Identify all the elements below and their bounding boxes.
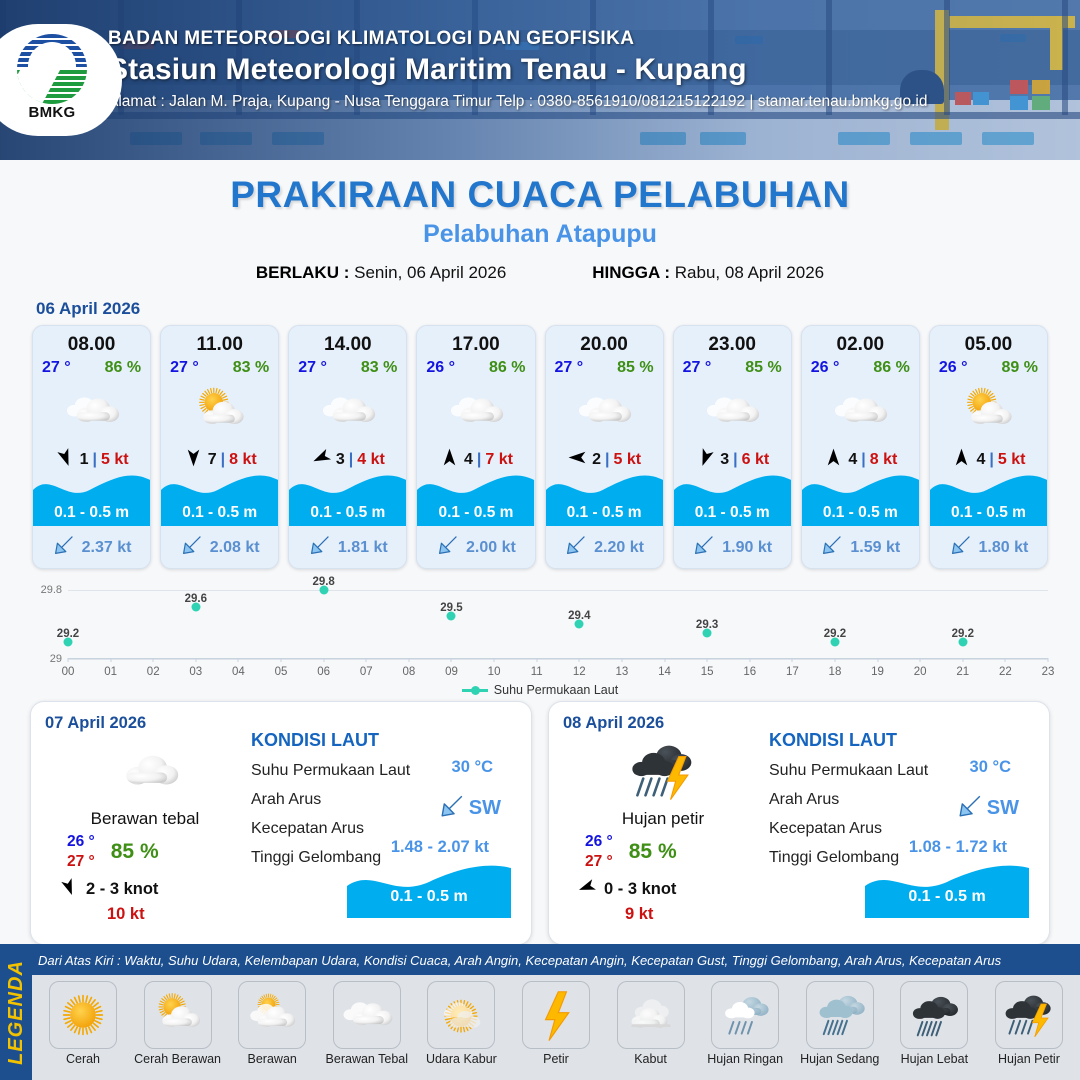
wind-separator: | [221,451,225,469]
chart-x-tick-label: 22 [999,666,1012,678]
card-time: 23.00 [674,326,791,356]
daily-forecast-row: 07 April 2026 Berawan tebal26 °27 °85 %2… [0,701,1080,945]
wave-height: 0.1 - 0.5 m [802,504,919,522]
daily-condition: Hujan petir [563,809,763,829]
card-time: 08.00 [33,326,150,356]
wind-separator: | [733,451,737,469]
daily-temp-max: 27 ° [67,853,95,871]
chart-point-label: 29.6 [185,593,207,605]
legend-item-label: Berawan Tebal [326,1052,408,1066]
chart-x-tick-label: 18 [829,666,842,678]
chart-x-tick-label: 16 [743,666,756,678]
gust-speed: 5 kt [101,451,129,469]
chart-x-tick [707,658,708,662]
legend-item: Berawan [227,981,317,1066]
agency-name: BADAN METEOROLOGI KLIMATOLOGI DAN GEOFIS… [108,28,927,50]
legend-item: Hujan Sedang [795,981,885,1066]
legend-items: Cerah Cerah Berawan [32,975,1080,1080]
weather-berawan-tebal-icon [45,735,245,807]
daily-forecast-panel: 07 April 2026 Berawan tebal26 °27 °85 %2… [30,701,532,945]
weather-petir-icon [522,981,590,1049]
wind-separator: | [989,451,993,469]
chart-x-tick-label: 08 [402,666,415,678]
daily-forecast-panel: 08 April 2026 Hujan petir26 °27 °85 %0 -… [548,701,1050,945]
hourly-card: 14.0027 °83 % 3|4 kt0.1 - 0.5 m1.81 kt [288,325,407,569]
card-current: 1.59 kt [802,533,919,562]
current-speed: 1.81 kt [338,539,388,557]
card-current: 1.80 kt [930,533,1047,562]
wind-direction-arrow-icon [577,877,597,902]
legend-item: Udara Kabur [416,981,506,1066]
card-temp-hum: 27 °85 % [674,356,791,377]
wind-speed: 7 [208,451,217,469]
chart-x-tick-label: 13 [616,666,629,678]
sst-chart: 2929.80001020304050607080910111213141516… [20,581,1060,697]
card-temperature: 26 ° [939,359,968,377]
legend-item: Hujan Ringan [700,981,790,1066]
chart-x-tick [621,658,622,662]
card-time: 02.00 [802,326,919,356]
chart-y-tick-label: 29 [50,653,62,665]
legend-item: Petir [511,981,601,1066]
legend-item-label: Kabut [634,1052,667,1066]
chart-legend-marker-icon [462,689,488,692]
current-speed: 2.20 kt [594,539,644,557]
daily-humidity: 85 % [629,840,677,864]
chart-x-tick [1005,658,1006,662]
hourly-date-label: 06 April 2026 [36,299,1080,319]
logo-label: BMKG [9,104,95,121]
wind-separator: | [605,451,609,469]
card-temp-hum: 27 °85 % [546,356,663,377]
chart-point-label: 29.5 [440,602,462,614]
berlaku-value: Senin, 06 April 2026 [354,263,506,282]
chart-x-tick-label: 03 [189,666,202,678]
card-time: 17.00 [417,326,534,356]
weather-hujan-ringan-icon [711,981,779,1049]
legend-item-label: Berawan [248,1052,297,1066]
chart-x-tick [664,658,665,662]
legend-item-label: Hujan Petir [998,1052,1060,1066]
legend-item: Hujan Petir [984,981,1074,1066]
chart-gridline [68,590,1048,591]
chart-point-label: 29.3 [696,619,718,631]
weather-berawan-tebal-icon [546,379,663,443]
chart-x-tick-label: 11 [531,666,543,678]
card-current: 2.20 kt [546,533,663,562]
card-humidity: 83 % [361,359,397,377]
legend-note: Dari Atas Kiri : Waktu, Suhu Udara, Kele… [32,944,1080,975]
card-temperature: 26 ° [811,359,840,377]
berlaku-label: BERLAKU : [256,263,350,282]
daily-temps: 26 °27 °85 % [563,833,763,871]
page-subtitle: Pelabuhan Atapupu [0,220,1080,249]
current-speed-value: 1.08 - 1.72 kt [909,838,1007,857]
legend-item-label: Petir [543,1052,569,1066]
chart-x-tick [834,658,835,662]
weather-berawan-tebal-icon [674,379,791,443]
chart-x-tick [110,658,111,662]
card-humidity: 86 % [489,359,525,377]
current-direction-arrow-icon [956,792,984,825]
wave-height: 0.1 - 0.5 m [674,504,791,522]
current-direction-value: SW [987,797,1019,820]
chart-x-tick-label: 05 [275,666,288,678]
card-temperature: 27 ° [42,359,71,377]
chart-x-tick-label: 17 [786,666,799,678]
legend-item: Kabut [606,981,696,1066]
card-current: 1.81 kt [289,533,406,562]
wind-speed: 4 [976,451,985,469]
daily-wave-height: 0.1 - 0.5 m [347,888,511,906]
chart-x-tick [962,658,963,662]
current-direction-arrow-icon [308,533,332,562]
current-direction-group: SW [956,792,1019,825]
hourly-card: 23.0027 °85 % 3|6 kt0.1 - 0.5 m1.90 kt [673,325,792,569]
daily-sea-conditions: KONDISI LAUTSuhu Permukaan LautArah Arus… [245,714,517,932]
chart-x-tick-label: 09 [445,666,458,678]
chart-point-label: 29.8 [312,576,334,588]
chart-y-tick-label: 29.8 [41,584,62,596]
legend-bar: LEGENDA Dari Atas Kiri : Waktu, Suhu Uda… [0,944,1080,1080]
current-speed: 1.59 kt [850,539,900,557]
hourly-card: 08.0027 °86 % 1|5 kt0.1 - 0.5 m2.37 kt [32,325,151,569]
card-current: 2.00 kt [417,533,534,562]
sea-conditions-title: KONDISI LAUT [251,730,517,751]
chart-point-label: 29.2 [824,628,846,640]
current-direction-arrow-icon [436,533,460,562]
hourly-forecast-row: 08.0027 °86 % 1|5 kt0.1 - 0.5 m2.37 kt11… [0,325,1080,569]
chart-x-tick-label: 19 [871,666,884,678]
daily-temps: 26 °27 °85 % [45,833,245,871]
daily-temp-min: 26 ° [67,833,95,851]
daily-gust: 10 kt [45,905,245,924]
daily-wind: 2 - 3 knot [45,877,245,902]
card-humidity: 86 % [105,359,141,377]
weather-hujan-lebat-icon [900,981,968,1049]
page-title: PRAKIRAAN CUACA PELABUHAN [0,174,1080,216]
weather-cerah-berawan-icon [161,379,278,443]
daily-temp-min: 26 ° [585,833,613,851]
card-temperature: 27 ° [555,359,584,377]
current-speed: 2.00 kt [466,539,516,557]
card-time: 11.00 [161,326,278,356]
wave-height: 0.1 - 0.5 m [161,504,278,522]
current-direction-value: SW [469,797,501,820]
chart-x-tick-label: 15 [701,666,714,678]
chart-x-tick [1048,658,1049,662]
weather-hujan-petir-icon [563,735,763,807]
chart-x-tick-label: 02 [147,666,160,678]
daily-wave-graphic: 0.1 - 0.5 m [865,862,1029,918]
daily-gust: 9 kt [563,905,763,924]
legend-item-label: Cerah Berawan [134,1052,221,1066]
chart-x-tick [195,658,196,662]
weather-hujan-petir-icon [995,981,1063,1049]
card-temp-hum: 27 °83 % [161,356,278,377]
wind-speed: 4 [464,451,473,469]
weather-berawan-tebal-icon [333,981,401,1049]
chart-x-tick [153,658,154,662]
legend-item: Cerah [38,981,128,1066]
hourly-card: 02.0026 °86 % 4|8 kt0.1 - 0.5 m1.59 kt [801,325,920,569]
current-speed: 1.80 kt [979,539,1029,557]
legend-item: Berawan Tebal [322,981,412,1066]
weather-berawan-tebal-icon [417,379,534,443]
chart-x-axis [68,658,1048,659]
chart-x-tick-label: 04 [232,666,245,678]
wind-speed: 4 [848,451,857,469]
wind-speed: 1 [80,451,89,469]
legend-item: Cerah Berawan [133,981,223,1066]
weather-cerah-icon [49,981,117,1049]
berlaku-group: BERLAKU : Senin, 06 April 2026 [256,263,506,283]
card-humidity: 85 % [745,359,781,377]
chart-legend: Suhu Permukaan Laut [20,683,1060,697]
hourly-card: 05.0026 °89 % 4|5 kt0.1 - 0.5 m1.80 kt [929,325,1048,569]
daily-date: 07 April 2026 [45,714,245,733]
daily-wave-height: 0.1 - 0.5 m [865,888,1029,906]
gust-speed: 8 kt [229,451,257,469]
chart-x-tick-label: 23 [1042,666,1055,678]
chart-gridline [68,659,1048,660]
sea-surface-temperature-value: 30 °C [970,758,1011,777]
card-temp-hum: 27 °83 % [289,356,406,377]
gust-speed: 4 kt [357,451,385,469]
daily-wind-speed: 2 - 3 knot [86,880,158,899]
current-direction-arrow-icon [438,792,466,825]
card-temperature: 27 ° [298,359,327,377]
current-direction-arrow-icon [52,533,76,562]
hingga-group: HINGGA : Rabu, 08 April 2026 [592,263,824,283]
chart-x-tick [408,658,409,662]
legend-side-text: LEGENDA [5,960,28,1065]
legend-item-label: Cerah [66,1052,100,1066]
chart-x-tick-label: 00 [62,666,75,678]
daily-wave-graphic: 0.1 - 0.5 m [347,862,511,918]
weather-cerah-berawan-icon [144,981,212,1049]
weather-cerah-berawan-icon [930,379,1047,443]
station-name: Stasiun Meteorologi Maritim Tenau - Kupa… [108,53,927,87]
chart-x-tick [877,658,878,662]
daily-left: 08 April 2026 Hujan petir26 °27 °85 %0 -… [563,714,763,932]
chart-legend-label: Suhu Permukaan Laut [494,683,618,697]
current-direction-arrow-icon [692,533,716,562]
chart-x-tick [68,658,69,662]
current-speed: 1.90 kt [722,539,772,557]
chart-point-label: 29.4 [568,610,590,622]
chart-point-label: 29.2 [952,628,974,640]
weather-udara-kabur-icon [427,981,495,1049]
wind-direction-arrow-icon [59,877,79,902]
card-current: 1.90 kt [674,533,791,562]
weather-berawan-icon [238,981,306,1049]
gust-speed: 5 kt [613,451,641,469]
current-direction-arrow-icon [820,533,844,562]
card-time: 14.00 [289,326,406,356]
bmkg-logo: BMKG [0,24,122,136]
wind-separator: | [861,451,865,469]
legend-item-label: Hujan Ringan [707,1052,783,1066]
station-address: Alamat : Jalan M. Praja, Kupang - Nusa T… [108,93,927,111]
chart-x-tick [451,658,452,662]
card-temp-hum: 26 °86 % [417,356,534,377]
chart-x-tick-label: 01 [104,666,117,678]
legend-item-label: Hujan Sedang [800,1052,879,1066]
hourly-card: 11.0027 °83 % 7|8 kt0.1 - 0.5 m2.08 kt [160,325,279,569]
daily-date: 08 April 2026 [563,714,763,733]
gust-speed: 7 kt [485,451,513,469]
chart-x-tick [323,658,324,662]
current-speed: 2.37 kt [82,539,132,557]
wave-height: 0.1 - 0.5 m [417,504,534,522]
hingga-label: HINGGA : [592,263,670,282]
weather-berawan-tebal-icon [802,379,919,443]
card-time: 05.00 [930,326,1047,356]
card-temp-hum: 26 °86 % [802,356,919,377]
card-temperature: 27 ° [170,359,199,377]
chart-x-tick [536,658,537,662]
daily-wind-speed: 0 - 3 knot [604,880,676,899]
wind-separator: | [349,451,353,469]
card-humidity: 83 % [233,359,269,377]
legend-side-label: LEGENDA [0,944,32,1080]
current-direction-arrow-icon [180,533,204,562]
card-humidity: 86 % [873,359,909,377]
current-speed-value: 1.48 - 2.07 kt [391,838,489,857]
chart-x-tick [281,658,282,662]
gust-speed: 6 kt [742,451,770,469]
current-direction-arrow-icon [564,533,588,562]
hourly-card: 17.0026 °86 % 4|7 kt0.1 - 0.5 m2.00 kt [416,325,535,569]
daily-condition: Berawan tebal [45,809,245,829]
wave-height: 0.1 - 0.5 m [289,504,406,522]
legend-item-label: Udara Kabur [426,1052,497,1066]
card-current: 2.37 kt [33,533,150,562]
wind-separator: | [477,451,481,469]
hingga-value: Rabu, 08 April 2026 [675,263,824,282]
weather-hujan-sedang-icon [806,981,874,1049]
chart-x-tick [494,658,495,662]
daily-temp-max: 27 ° [585,853,613,871]
card-humidity: 85 % [617,359,653,377]
daily-sea-conditions: KONDISI LAUTSuhu Permukaan LautArah Arus… [763,714,1035,932]
card-temp-hum: 27 °86 % [33,356,150,377]
chart-point-label: 29.2 [57,628,79,640]
card-temp-hum: 26 °89 % [930,356,1047,377]
sea-conditions-title: KONDISI LAUT [769,730,1035,751]
gust-speed: 8 kt [870,451,898,469]
chart-x-tick-label: 10 [488,666,501,678]
chart-x-tick [792,658,793,662]
weather-berawan-tebal-icon [33,379,150,443]
chart-x-tick-label: 14 [658,666,671,678]
wave-height: 0.1 - 0.5 m [33,504,150,522]
weather-kabut-icon [617,981,685,1049]
chart-x-tick [749,658,750,662]
wind-speed: 3 [720,451,729,469]
wind-speed: 2 [592,451,601,469]
chart-x-tick-label: 06 [317,666,330,678]
validity-row: BERLAKU : Senin, 06 April 2026 HINGGA : … [0,263,1080,283]
weather-berawan-tebal-icon [289,379,406,443]
card-current: 2.08 kt [161,533,278,562]
wind-separator: | [92,451,96,469]
chart-x-tick-label: 07 [360,666,373,678]
card-temperature: 27 ° [683,359,712,377]
chart-x-tick [238,658,239,662]
current-direction-group: SW [438,792,501,825]
card-time: 20.00 [546,326,663,356]
hourly-card: 20.0027 °85 % 2|5 kt0.1 - 0.5 m2.20 kt [545,325,664,569]
wave-height: 0.1 - 0.5 m [930,504,1047,522]
daily-wind: 0 - 3 knot [563,877,763,902]
title-block: PRAKIRAAN CUACA PELABUHAN Pelabuhan Atap… [0,174,1080,283]
chart-x-tick-label: 12 [573,666,586,678]
chart-x-tick [366,658,367,662]
chart-x-tick-label: 20 [914,666,927,678]
gust-speed: 5 kt [998,451,1026,469]
page-header: BMKG BADAN METEOROLOGI KLIMATOLOGI DAN G… [0,0,1080,160]
daily-left: 07 April 2026 Berawan tebal26 °27 °85 %2… [45,714,245,932]
wind-speed: 3 [336,451,345,469]
sea-surface-temperature-value: 30 °C [452,758,493,777]
current-direction-arrow-icon [949,533,973,562]
chart-x-tick [579,658,580,662]
wave-height: 0.1 - 0.5 m [546,504,663,522]
card-humidity: 89 % [1002,359,1038,377]
legend-item: Hujan Lebat [889,981,979,1066]
daily-humidity: 85 % [111,840,159,864]
card-temperature: 26 ° [426,359,455,377]
current-speed: 2.08 kt [210,539,260,557]
chart-x-tick [920,658,921,662]
chart-x-tick-label: 21 [956,666,969,678]
legend-item-label: Hujan Lebat [901,1052,968,1066]
